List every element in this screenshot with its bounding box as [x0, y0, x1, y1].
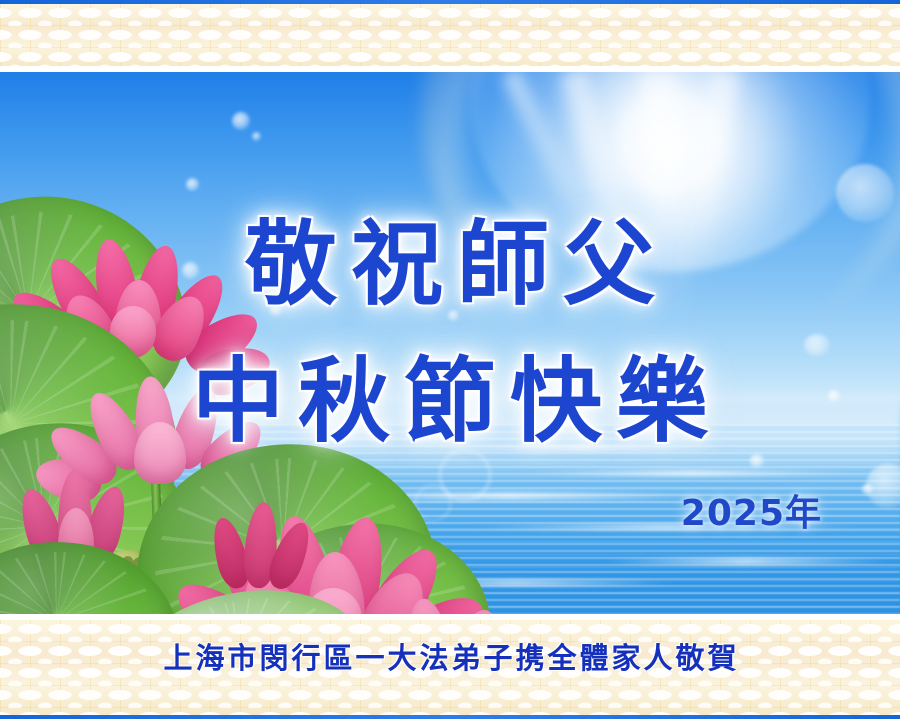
top-ornamental-border — [0, 4, 900, 66]
water-streak-2 — [520, 470, 860, 476]
bokeh-12 — [862, 484, 873, 495]
bottom-blue-rule — [0, 715, 900, 719]
bokeh-11 — [750, 454, 764, 468]
petal — [403, 596, 454, 614]
headline-line-1: 敬祝師父 — [0, 213, 900, 317]
year-label: 2025年 — [0, 484, 822, 536]
scenery-photo-panel: 敬祝師父 中秋節快樂 2025年 — [0, 72, 900, 614]
bokeh-2 — [232, 112, 250, 130]
greeting-card: 敬祝師父 中秋節快樂 2025年 上海市閔行區一大法弟子携全體家人敬賀 — [0, 0, 900, 719]
headline-line-2: 中秋節快樂 — [0, 350, 900, 454]
bottom-white-divider — [0, 614, 900, 620]
lotus-flower-small-right — [360, 592, 520, 614]
water-streak-5 — [600, 558, 890, 565]
bokeh-3 — [252, 132, 261, 141]
bokeh-4 — [186, 178, 199, 191]
petal — [443, 604, 506, 614]
sender-caption: 上海市閔行區一大法弟子携全體家人敬賀 — [0, 641, 900, 675]
